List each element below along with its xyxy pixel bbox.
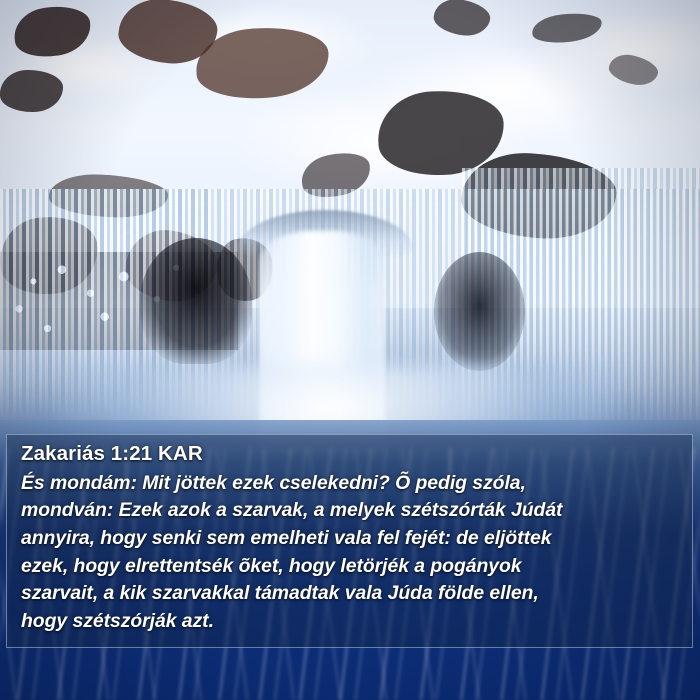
verse-line: mondván: Ezek azok a szarvak, a melyek s… (21, 497, 678, 525)
verse-overlay-panel: Zakariás 1:21 KAR És mondám: Mit jöttek … (6, 434, 693, 648)
rock-shadow-cavity (434, 252, 525, 371)
verse-image-card: Zakariás 1:21 KAR És mondám: Mit jöttek … (0, 0, 700, 700)
rock-shadow-cavity (140, 238, 252, 364)
verse-line: ezek, hogy elrettentsék õket, hogy letör… (21, 553, 678, 581)
verse-line: És mondám: Mit jöttek ezek cselekedni? Õ… (21, 470, 678, 498)
verse-line: hogy szétszórják azt. (21, 608, 678, 636)
verse-line: annyira, hogy senki sem emelheti vala fe… (21, 525, 678, 553)
verse-text: És mondám: Mit jöttek ezek cselekedni? Õ… (21, 470, 678, 636)
verse-line: szarvait, a kik szarvakkal támadtak vala… (21, 580, 678, 608)
verse-reference: Zakariás 1:21 KAR (21, 441, 678, 468)
